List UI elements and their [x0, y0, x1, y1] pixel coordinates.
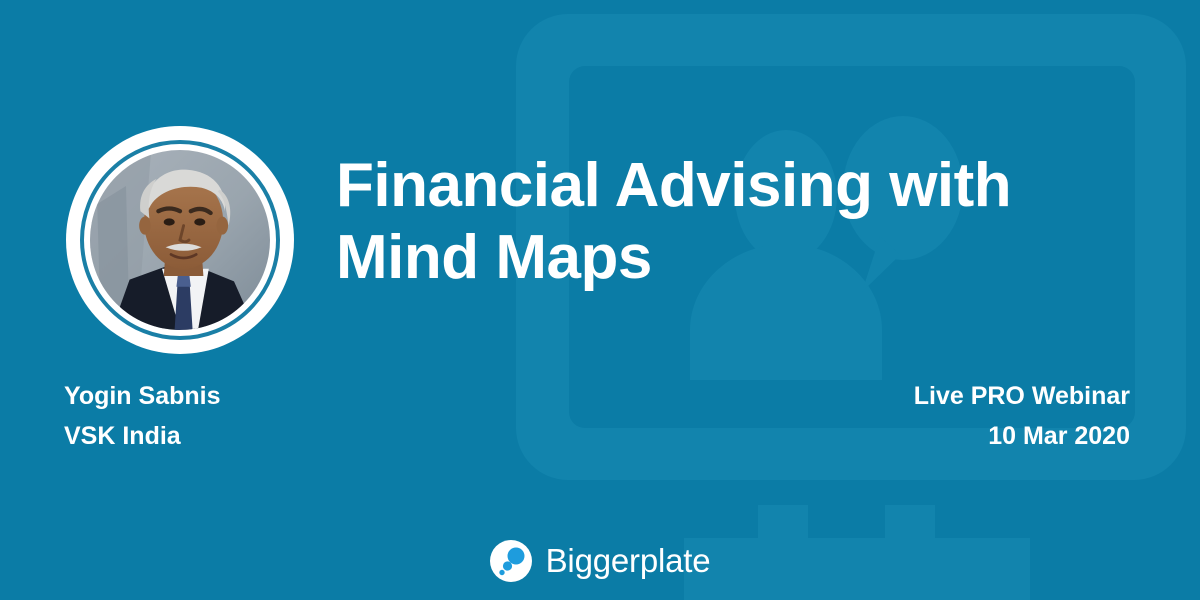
event-date: 10 Mar 2020	[914, 416, 1130, 456]
speaker-name: Yogin Sabnis	[64, 376, 221, 416]
monitor-stand-left-leg	[758, 505, 808, 543]
monitor-stand-right-leg	[885, 505, 935, 543]
title-line-2: Mind Maps	[336, 222, 1096, 294]
speaker-block: Yogin Sabnis VSK India	[64, 376, 221, 456]
title-line-1: Financial Advising with	[336, 150, 1096, 222]
speaker-organisation: VSK India	[64, 416, 221, 456]
event-meta-block: Live PRO Webinar 10 Mar 2020	[914, 376, 1130, 456]
avatar	[66, 126, 294, 354]
biggerplate-bubbles-icon	[490, 540, 532, 582]
webinar-banner: Financial Advising with Mind Maps Yogin …	[0, 0, 1200, 600]
event-type-label: Live PRO Webinar	[914, 376, 1130, 416]
page-title: Financial Advising with Mind Maps	[336, 150, 1096, 294]
biggerplate-logo[interactable]: Biggerplate	[0, 540, 1200, 582]
speaker-portrait-avatar	[90, 150, 270, 330]
avatar-ring	[80, 140, 280, 340]
biggerplate-wordmark: Biggerplate	[546, 540, 711, 582]
